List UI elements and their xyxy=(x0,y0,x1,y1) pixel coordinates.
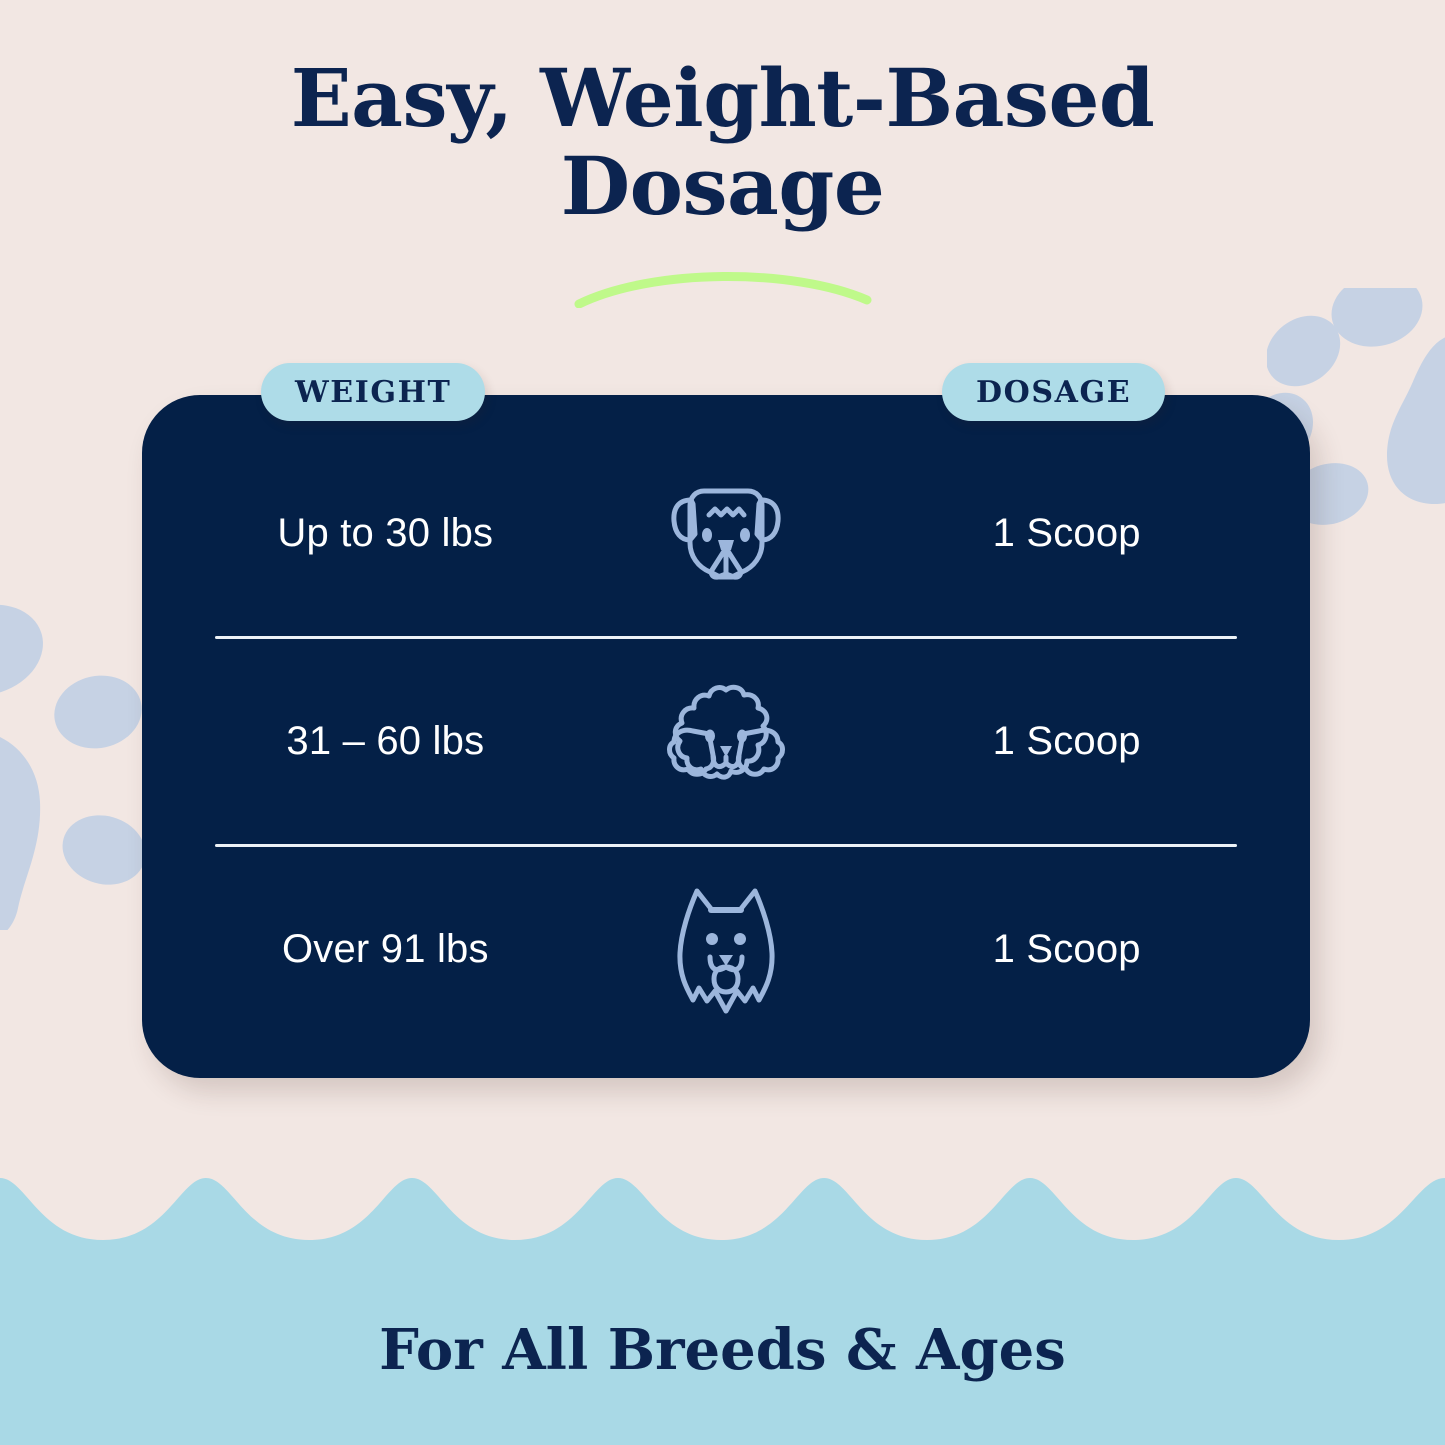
row-dosage-value: 1 Scoop xyxy=(896,927,1237,972)
dosage-rows: Up to 30 lbs xyxy=(142,395,1310,1078)
table-row: Up to 30 lbs xyxy=(215,431,1237,636)
poodle-dog-face-icon xyxy=(663,684,789,800)
table-row: 31 – 60 lbs xyxy=(215,639,1237,844)
page-title: Easy, Weight-Based Dosage xyxy=(0,58,1445,227)
footer-tagline: For All Breeds & Ages xyxy=(0,1317,1445,1383)
row-dosage-value: 1 Scoop xyxy=(896,511,1237,556)
row-weight-value: 31 – 60 lbs xyxy=(215,719,556,764)
dosage-table-card: WEIGHT DOSAGE Up to 30 lbs xyxy=(142,395,1310,1078)
wave-footer xyxy=(0,1140,1445,1445)
wave-shape-icon xyxy=(0,1140,1445,1445)
pug-dog-face-icon xyxy=(662,482,790,586)
row-icon-cell xyxy=(556,883,897,1017)
column-header-dosage: DOSAGE xyxy=(942,363,1165,421)
husky-dog-face-icon xyxy=(667,883,785,1017)
row-weight-value: Up to 30 lbs xyxy=(215,511,556,556)
title-line-2: Dosage xyxy=(0,146,1445,228)
table-row: Over 91 lbs xyxy=(215,847,1237,1052)
column-header-weight: WEIGHT xyxy=(261,363,485,421)
row-icon-cell xyxy=(556,482,897,586)
column-header-dosage-label: DOSAGE xyxy=(976,375,1131,410)
row-icon-cell xyxy=(556,684,897,800)
green-arc-underline-icon xyxy=(573,262,873,308)
row-weight-value: Over 91 lbs xyxy=(215,927,556,972)
row-dosage-value: 1 Scoop xyxy=(896,719,1237,764)
column-header-weight-label: WEIGHT xyxy=(295,375,451,410)
title-line-1: Easy, Weight-Based xyxy=(0,58,1445,140)
